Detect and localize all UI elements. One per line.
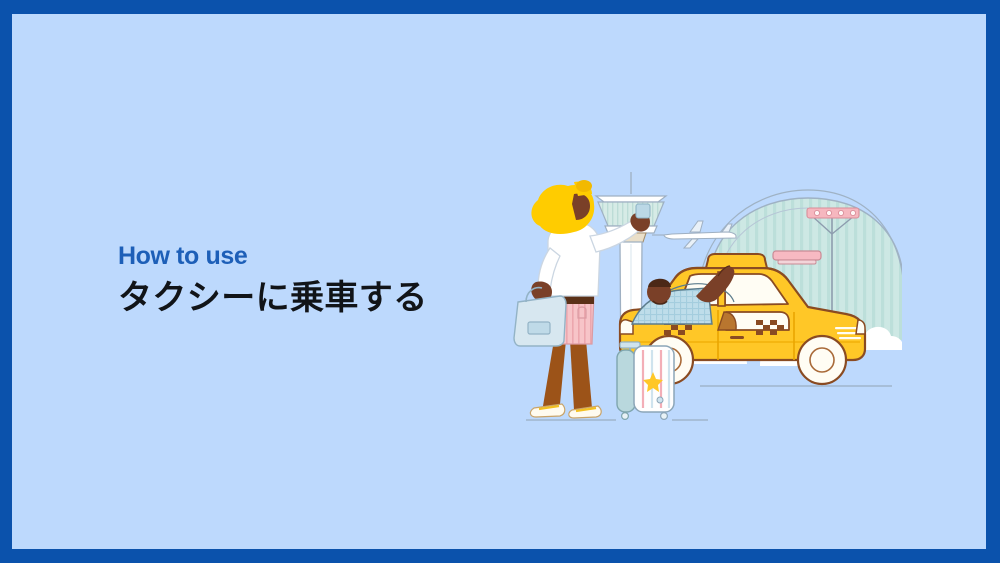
eyebrow-label: How to use <box>118 242 518 271</box>
text-block: How to use タクシーに乗車する <box>118 242 518 319</box>
taxi-roof-sign <box>773 251 821 264</box>
slide-canvas: How to use タクシーに乗車する <box>12 14 986 549</box>
slide-frame: How to use タクシーに乗車する <box>0 0 1000 563</box>
rolling-suitcase <box>617 342 674 419</box>
airport-taxi-pickup-illustration <box>512 164 902 434</box>
page-title: タクシーに乗車する <box>118 277 518 320</box>
